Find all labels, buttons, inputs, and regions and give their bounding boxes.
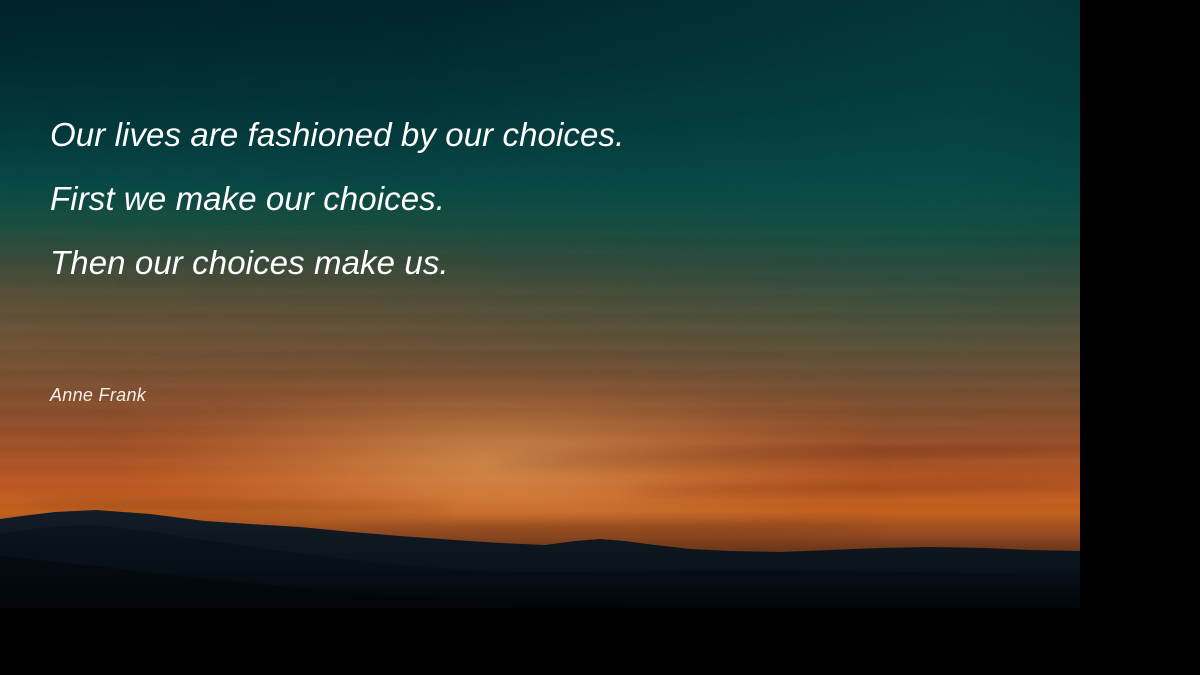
sunset-landscape-photo: Our lives are fashioned by our choices. …: [0, 0, 1080, 608]
slide-canvas: Our lives are fashioned by our choices. …: [0, 0, 1200, 675]
quote-author: Anne Frank: [50, 386, 146, 404]
quote-text-block: Our lives are fashioned by our choices. …: [50, 118, 950, 279]
quote-line-2: First we make our choices.: [50, 182, 950, 215]
quote-line-3: Then our choices make us.: [50, 246, 950, 279]
quote-line-1: Our lives are fashioned by our choices.: [50, 118, 950, 151]
hill-silhouette: [0, 0, 1080, 608]
